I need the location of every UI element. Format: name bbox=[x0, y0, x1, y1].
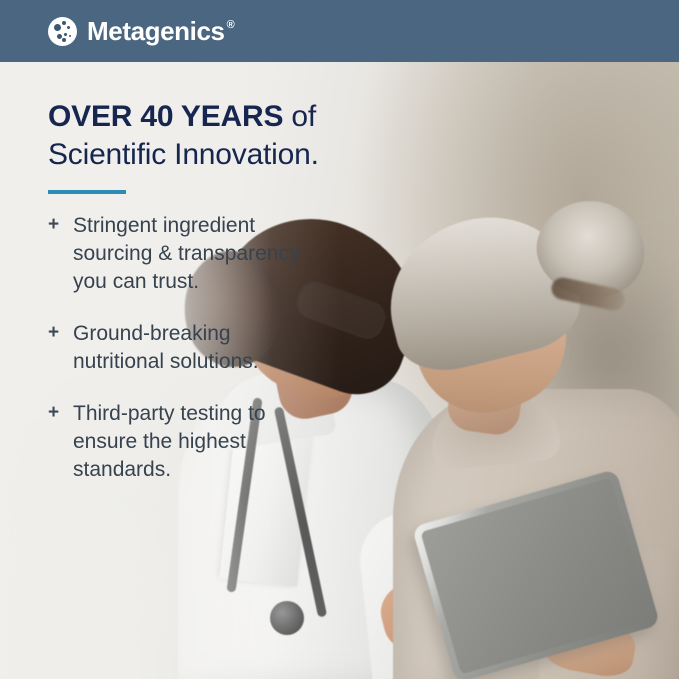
plus-icon: + bbox=[48, 320, 60, 376]
brand-header: Metagenics ® bbox=[0, 0, 679, 62]
stethoscope-chestpiece bbox=[270, 601, 304, 635]
headline-rest: of bbox=[283, 100, 316, 133]
page-title: OVER 40 YEARS of Scientific Innovation. bbox=[48, 98, 378, 174]
plus-icon: + bbox=[48, 400, 60, 484]
brand-wordmark: Metagenics ® bbox=[87, 18, 234, 44]
headline-second-line: Scientific Innovation. bbox=[48, 138, 319, 171]
list-item: + Third-party testing to ensure the high… bbox=[48, 400, 378, 484]
brand-name: Metagenics bbox=[87, 18, 225, 44]
hero-copy-block: OVER 40 YEARS of Scientific Innovation. … bbox=[48, 98, 378, 484]
benefits-list: + Stringent ingredient sourcing & transp… bbox=[48, 212, 378, 483]
molecule-circle-icon bbox=[48, 17, 77, 46]
benefit-text: Stringent ingredient sourcing & transpar… bbox=[73, 212, 305, 296]
registered-trademark-mark: ® bbox=[227, 20, 235, 31]
metagenics-brand-banner: Metagenics ® OVER 40 YEARS of Scientific… bbox=[0, 0, 679, 679]
headline-emphasis: OVER 40 YEARS bbox=[48, 100, 283, 133]
benefit-text: Ground-breaking nutritional solutions. bbox=[73, 320, 305, 376]
accent-divider bbox=[48, 190, 126, 194]
brand-logo-lockup[interactable]: Metagenics ® bbox=[48, 17, 234, 46]
list-item: + Ground-breaking nutritional solutions. bbox=[48, 320, 378, 376]
list-item: + Stringent ingredient sourcing & transp… bbox=[48, 212, 378, 296]
benefit-text: Third-party testing to ensure the highes… bbox=[73, 400, 305, 484]
plus-icon: + bbox=[48, 212, 60, 296]
